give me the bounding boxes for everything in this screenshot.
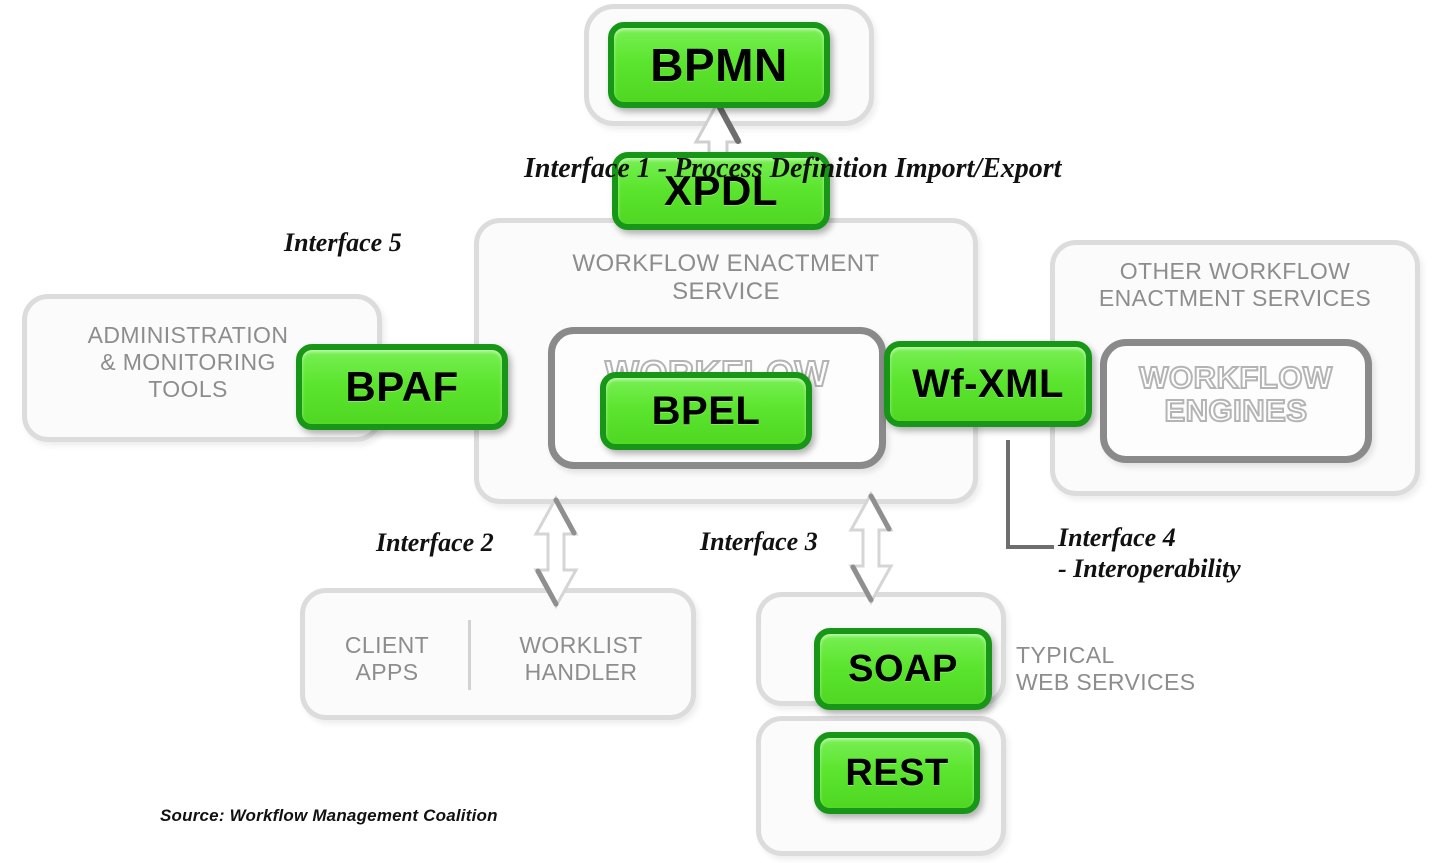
typical-web-services-label: TYPICAL WEB SERVICES (1016, 642, 1266, 696)
other-workflow-enactment-services-label: OTHER WORKFLOW ENACTMENT SERVICES (1058, 258, 1412, 312)
chip-bpaf-label: BPAF (345, 366, 458, 408)
client-worklist-divider (468, 620, 471, 690)
workflow-enactment-service-label: WORKFLOW ENACTMENT SERVICE (484, 250, 968, 307)
chip-wfxml-label: Wf-XML (912, 364, 1064, 404)
interface1-label: Interface 1 - Process Definition Import/… (524, 152, 1061, 185)
interface4-label: Interface 4 - Interoperability (1058, 523, 1241, 584)
chip-bpaf[interactable]: BPAF (296, 344, 508, 430)
workflow-reference-model-diagram: ADMINISTRATION & MONITORING TOOLS WORKFL… (0, 0, 1444, 863)
interface3-label: Interface 3 (700, 527, 818, 558)
chip-bpel[interactable]: BPEL (600, 372, 812, 450)
worklist-handler-label: WORKLIST HANDLER (478, 632, 684, 686)
workflow-engines-right-label: WORKFLOW ENGINES (1104, 362, 1368, 427)
chip-rest-label: REST (845, 754, 948, 792)
interface4-leader-line (1006, 440, 1054, 549)
interface5-label: Interface 5 (284, 228, 402, 259)
chip-wfxml[interactable]: Wf-XML (884, 341, 1092, 427)
chip-bpmn[interactable]: BPMN (608, 22, 830, 108)
interface3-arrow (843, 492, 899, 604)
chip-soap[interactable]: SOAP (814, 628, 992, 710)
interface2-label: Interface 2 (376, 528, 494, 559)
chip-bpel-label: BPEL (652, 391, 761, 431)
chip-rest[interactable]: REST (814, 732, 980, 814)
interface2-arrow (528, 496, 584, 608)
source-note: Source: Workflow Management Coalition (160, 806, 498, 826)
chip-soap-label: SOAP (848, 650, 958, 688)
client-apps-label: CLIENT APPS (312, 632, 462, 686)
chip-bpmn-label: BPMN (650, 42, 787, 88)
